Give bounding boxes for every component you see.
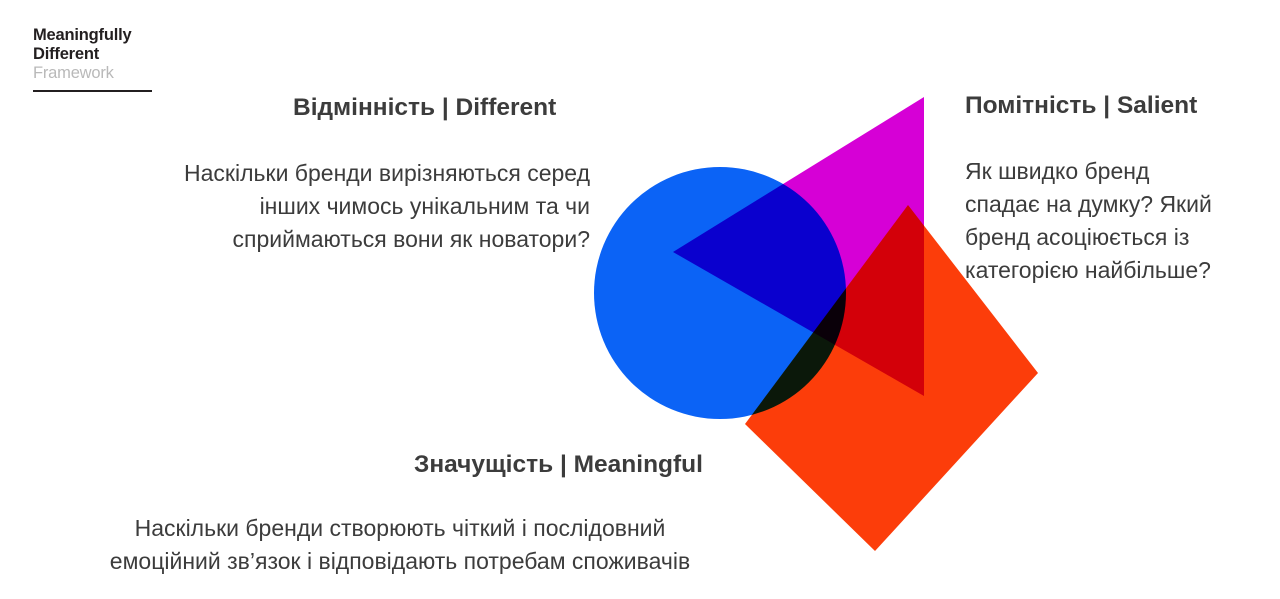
pillar-body-different-line-2: інших чимось унікальним та чи <box>80 190 590 223</box>
shape-circle-different <box>594 167 846 419</box>
logo-line-different: Different <box>33 45 193 64</box>
pillar-body-different: Наскільки бренди вирізняються серед інши… <box>80 157 590 256</box>
logo-line-meaningfully: Meaningfully <box>33 26 193 45</box>
pillar-body-meaningful-line-2: емоційний зв’язок і відповідають потреба… <box>50 545 750 578</box>
logo-underline-rule <box>33 90 152 92</box>
pillar-body-salient-line-4: категорією найбільше? <box>965 254 1265 287</box>
pillar-body-meaningful: Наскільки бренди створюють чіткий і посл… <box>50 512 750 578</box>
pillar-body-salient-line-2: спадає на думку? Який <box>965 188 1265 221</box>
shape-triangle-salient <box>673 97 924 396</box>
slide-canvas: Meaningfully Different Framework Відмінн… <box>0 0 1280 599</box>
pillar-title-meaningful: Значущість | Meaningful <box>414 450 703 480</box>
pillar-body-different-line-3: сприймаються вони як новатори? <box>80 223 590 256</box>
pillar-body-salient-line-1: Як швидко бренд <box>965 155 1265 188</box>
brand-logo: Meaningfully Different Framework <box>33 26 193 92</box>
pillar-title-different: Відмінність | Different <box>293 93 556 123</box>
pillar-body-different-line-1: Наскільки бренди вирізняються серед <box>80 157 590 190</box>
pillar-body-meaningful-line-1: Наскільки бренди створюють чіткий і посл… <box>50 512 750 545</box>
logo-line-framework: Framework <box>33 64 193 83</box>
pillar-title-salient: Помітність | Salient <box>965 91 1197 121</box>
pillar-body-salient-line-3: бренд асоціюється із <box>965 221 1265 254</box>
pillar-body-salient: Як швидко бренд спадає на думку? Який бр… <box>965 155 1265 287</box>
